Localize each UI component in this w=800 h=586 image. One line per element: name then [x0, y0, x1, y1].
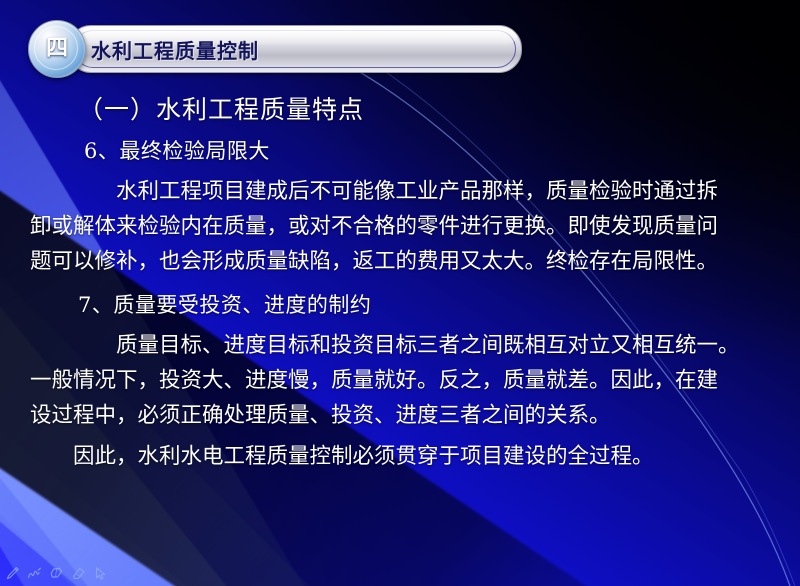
point-6-paragraph: 水利工程项目建成后不可能像工业产品那样，质量检验时通过拆 卸或解体来检验内在质量… [0, 174, 800, 279]
eraser-icon[interactable] [70, 565, 87, 582]
pointer-icon[interactable] [92, 565, 109, 582]
pen-icon[interactable] [4, 565, 21, 582]
paragraph-line: 一般情况下，投资大、进度慢，质量就好。反之，质量就差。因此，在建 [30, 363, 782, 398]
marker-icon[interactable] [26, 565, 43, 582]
spacer [0, 279, 800, 288]
slide-title: 水利工程质量控制 [91, 26, 259, 72]
closing-paragraph: 因此，水利水电工程质量控制必须贯穿于项目建设的全过程。 [30, 439, 782, 474]
slide-body: （一）水利工程质量特点 6、最终检验局限大 水利工程项目建成后不可能像工业产品那… [0, 92, 800, 474]
highlighter-icon[interactable] [48, 565, 65, 582]
point-7-paragraph: 质量目标、进度目标和投资目标三者之间既相互对立又相互统一。 一般情况下，投资大、… [0, 328, 800, 433]
badge-label: 四 [46, 38, 68, 60]
annotation-toolbar[interactable] [4, 565, 109, 582]
presentation-slide: 水利工程质量控制 四 （一）水利工程质量特点 6、最终检验局限大 水利工程项目建… [0, 0, 800, 586]
paragraph-line: 水利工程项目建成后不可能像工业产品那样，质量检验时通过拆 [30, 174, 782, 209]
slide-header: 水利工程质量控制 四 [0, 18, 560, 80]
point-7-heading: 7、质量要受投资、进度的制约 [78, 288, 800, 322]
section-heading: （一）水利工程质量特点 [78, 92, 800, 128]
section-number-badge: 四 [28, 20, 86, 78]
paragraph-line: 质量目标、进度目标和投资目标三者之间既相互对立又相互统一。 [30, 328, 782, 363]
paragraph-line: 设过程中，必须正确处理质量、投资、进度三者之间的关系。 [30, 398, 782, 433]
title-pill-bar: 水利工程质量控制 [68, 25, 522, 73]
paragraph-line: 题可以修补，也会形成质量缺陷，返工的费用又太大。终检存在局限性。 [30, 244, 782, 279]
point-6-heading: 6、最终检验局限大 [84, 134, 800, 168]
paragraph-line: 卸或解体来检验内在质量，或对不合格的零件进行更换。即使发现质量问 [30, 209, 782, 244]
